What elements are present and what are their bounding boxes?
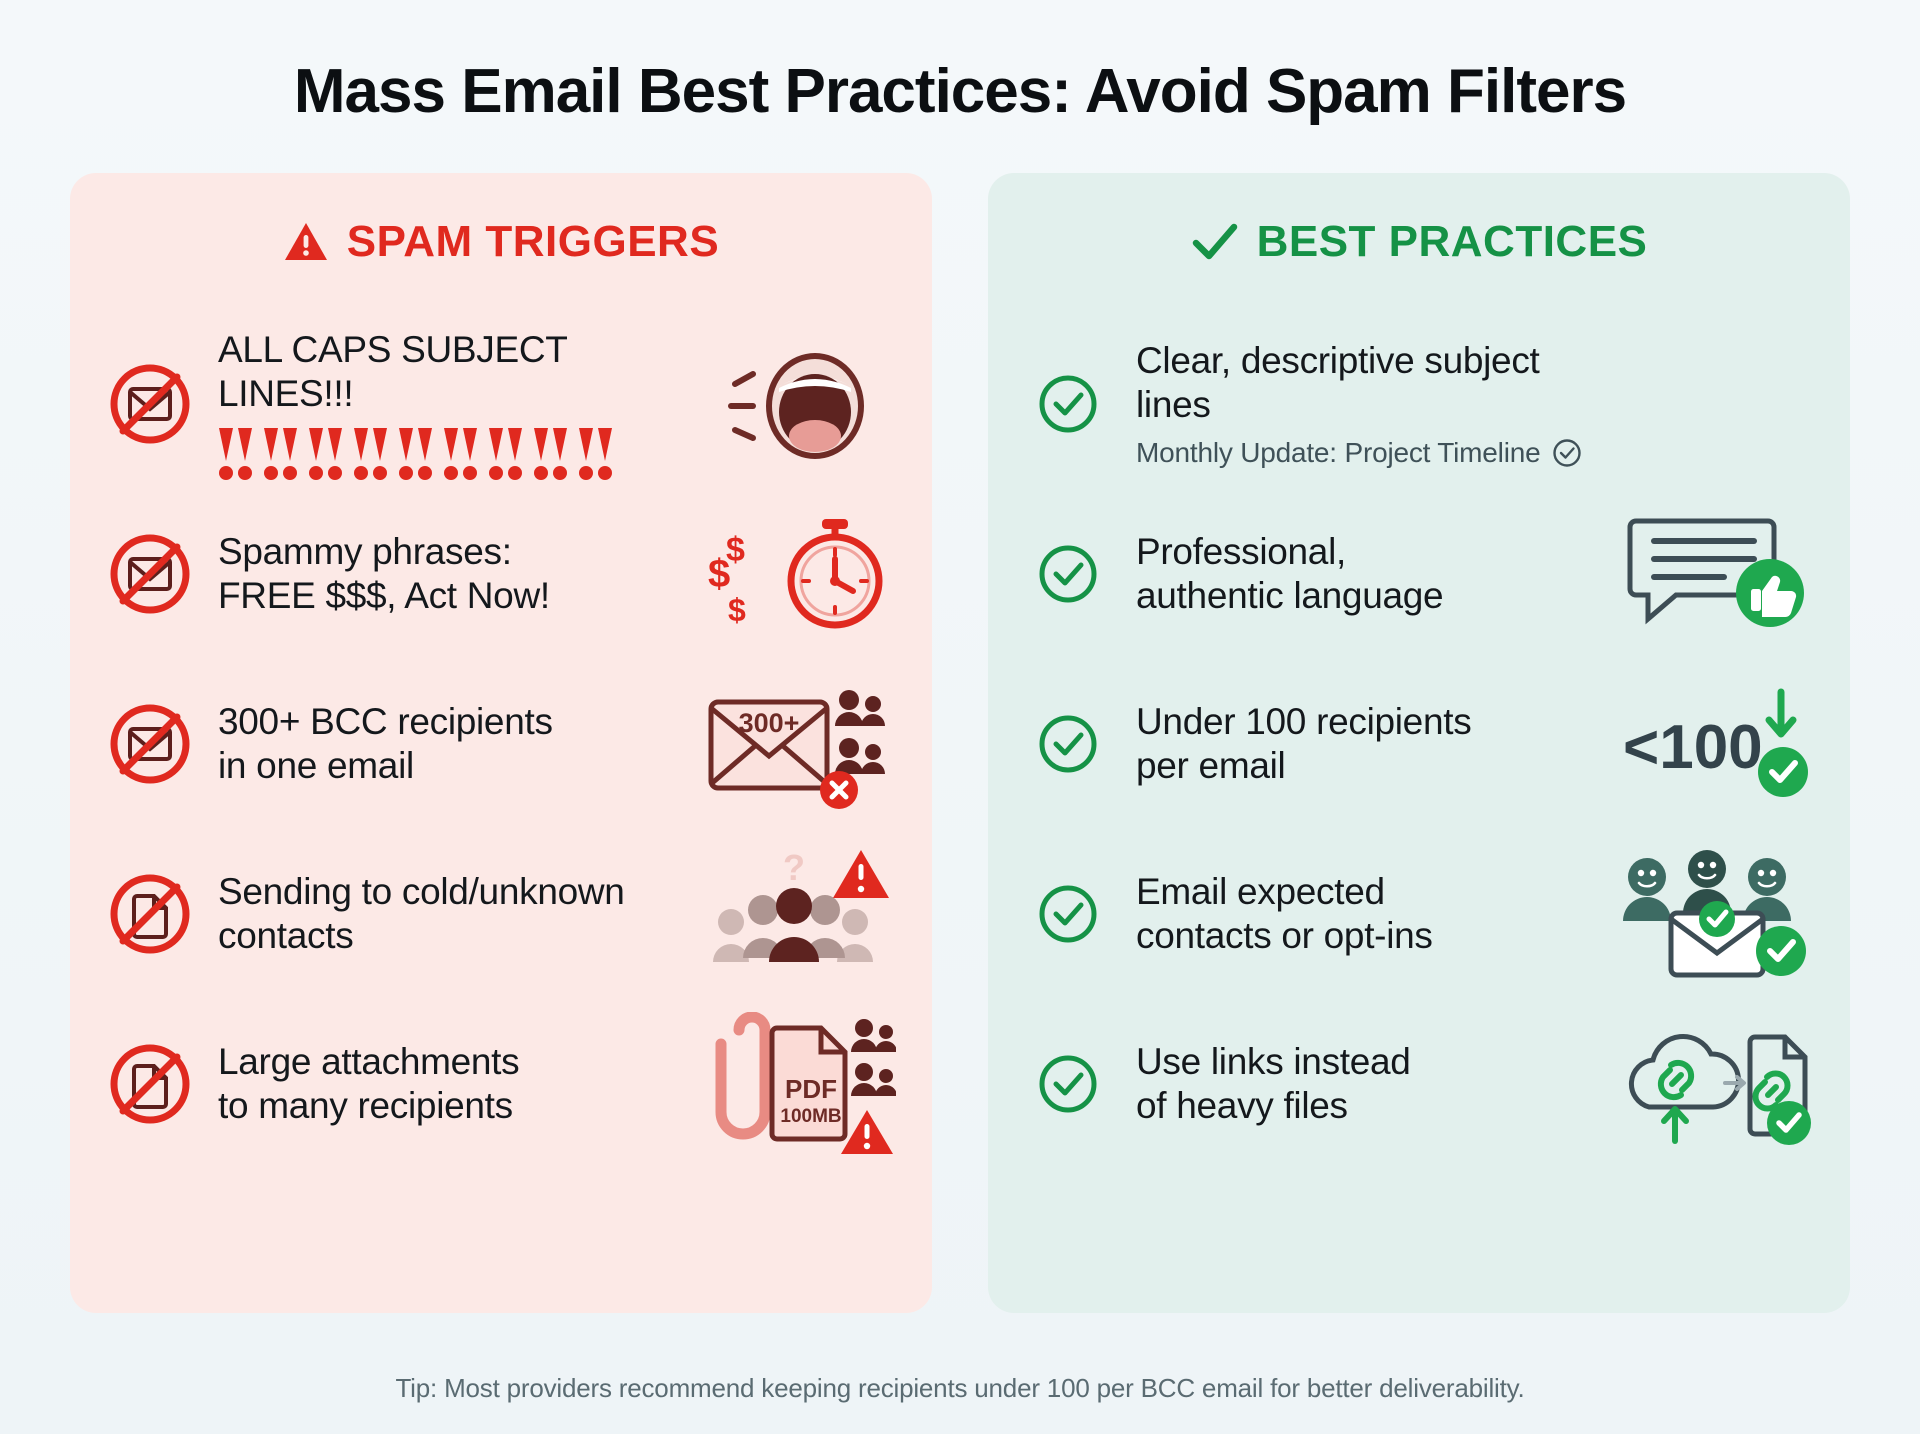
best-row-under-100-body: Under 100 recipients per email [1136, 700, 1594, 787]
best-row-expected-line1: Email expected [1136, 870, 1594, 914]
spam-row-bcc-line2: in one email [218, 744, 676, 788]
best-row-links-line1: Use links instead [1136, 1040, 1594, 1084]
check-circle-small-icon [1552, 438, 1582, 468]
best-row-expected-line2: contacts or opt-ins [1136, 914, 1594, 958]
best-row-links-line2: of heavy files [1136, 1084, 1594, 1128]
footer-tip: Tip: Most providers recommend keeping re… [70, 1347, 1850, 1434]
exclamation-pair [578, 428, 612, 480]
unknown-contacts-warning-icon: ? [698, 844, 898, 984]
spam-row-all-caps-text: ALL CAPS SUBJECT LINES!!! [218, 328, 676, 415]
warning-triangle-icon [283, 221, 329, 263]
spam-triggers-panel: SPAM TRIGGERS ALL CAPS SUBJECT LINE [70, 173, 932, 1313]
page-title: Mass Email Best Practices: Avoid Spam Fi… [70, 56, 1850, 127]
spam-row-all-caps: ALL CAPS SUBJECT LINES!!! [104, 319, 898, 489]
check-circle-icon [1022, 1053, 1114, 1115]
spam-row-spammy-phrases-body: Spammy phrases: FREE $$$, Act Now! [218, 530, 676, 617]
exclamation-pair [218, 428, 252, 480]
spam-row-cold-contacts: Sending to cold/unknown contacts [104, 829, 898, 999]
exclamation-marks [218, 428, 676, 480]
best-row-subject-sub: Monthly Update: Project Timeline [1136, 437, 1594, 469]
best-panel-header: BEST PRACTICES [1022, 217, 1816, 267]
spam-row-bcc-body: 300+ BCC recipients in one email [218, 700, 676, 787]
best-row-professional-body: Professional, authentic language [1136, 530, 1594, 617]
spam-panel-title: SPAM TRIGGERS [347, 217, 719, 267]
best-panel-title: BEST PRACTICES [1257, 217, 1648, 267]
exclamation-pair [353, 428, 387, 480]
pdf-label: PDF [785, 1074, 837, 1104]
best-row-subject-sub-text: Monthly Update: Project Timeline [1136, 437, 1540, 469]
best-row-expected-contacts: Email expected contacts or opt-ins [1022, 829, 1816, 999]
spam-row-cold-line1: Sending to cold/unknown [218, 870, 676, 914]
spam-row-bcc-line1: 300+ BCC recipients [218, 700, 676, 744]
pdf-attachment-icon: PDF 100MB [698, 1014, 898, 1154]
check-circle-icon [1022, 543, 1114, 605]
envelope-count-label: 300+ [739, 708, 800, 738]
best-rows: Clear, descriptive subject lines Monthly… [1022, 319, 1816, 1169]
spam-row-large-attachments: Large attachments to many recipients PDF… [104, 999, 898, 1169]
under-100-label: <100 [1623, 713, 1763, 782]
spam-row-all-caps-body: ALL CAPS SUBJECT LINES!!! [218, 328, 676, 479]
check-circle-icon [1022, 373, 1114, 435]
cloud-link-file-icon [1616, 1014, 1816, 1154]
best-row-subject-body: Clear, descriptive subject lines Monthly… [1136, 339, 1594, 468]
spam-row-spammy-phrases: Spammy phrases: FREE $$$, Act Now! $ $ $ [104, 489, 898, 659]
exclamation-pair [263, 428, 297, 480]
svg-text:$: $ [728, 592, 746, 628]
spam-row-spammy-line2: FREE $$$, Act Now! [218, 574, 676, 618]
spam-row-attachments-line1: Large attachments [218, 1040, 676, 1084]
exclamation-pair [308, 428, 342, 480]
no-email-icon [104, 362, 196, 446]
check-mark-icon [1191, 221, 1239, 263]
spam-row-cold-line2: contacts [218, 914, 676, 958]
best-row-professional-line2: authentic language [1136, 574, 1594, 618]
infographic-page: Mass Email Best Practices: Avoid Spam Fi… [0, 0, 1920, 1434]
spam-row-attachments-body: Large attachments to many recipients [218, 1040, 676, 1127]
best-row-under-100-line1: Under 100 recipients [1136, 700, 1594, 744]
no-document-icon [104, 1042, 196, 1126]
best-row-links-body: Use links instead of heavy files [1136, 1040, 1594, 1127]
best-row-expected-body: Email expected contacts or opt-ins [1136, 870, 1594, 957]
exclamation-pair [443, 428, 477, 480]
envelope-300-plus-icon: 300+ [698, 674, 898, 814]
best-row-subject-line1: Clear, descriptive subject lines [1136, 339, 1594, 426]
spam-panel-header: SPAM TRIGGERS [104, 217, 898, 267]
spam-row-bcc-recipients: 300+ BCC recipients in one email 300+ [104, 659, 898, 829]
spam-row-spammy-line1: Spammy phrases: [218, 530, 676, 574]
question-mark-label: ? [783, 847, 805, 888]
exclamation-pair [488, 428, 522, 480]
no-email-icon [104, 702, 196, 786]
spam-row-attachments-line2: to many recipients [218, 1084, 676, 1128]
check-circle-icon [1022, 883, 1114, 945]
under-100-icon: <100 [1616, 674, 1816, 814]
best-row-under-100-line2: per email [1136, 744, 1594, 788]
best-row-professional-line1: Professional, [1136, 530, 1594, 574]
best-row-use-links: Use links instead of heavy files [1022, 999, 1816, 1169]
opted-in-contacts-icon [1616, 844, 1816, 984]
best-row-subject-lines: Clear, descriptive subject lines Monthly… [1022, 319, 1816, 489]
exclamation-pair [533, 428, 567, 480]
chat-thumbs-up-icon [1616, 504, 1816, 644]
check-circle-icon [1022, 713, 1114, 775]
spam-row-cold-body: Sending to cold/unknown contacts [218, 870, 676, 957]
best-row-professional-language: Professional, authentic language [1022, 489, 1816, 659]
shouting-mouth-icon [698, 334, 898, 474]
no-document-icon [104, 872, 196, 956]
best-row-under-100: Under 100 recipients per email <100 [1022, 659, 1816, 829]
dollar-signs-stopwatch-icon: $ $ $ [698, 504, 898, 644]
best-practices-panel: BEST PRACTICES Clear, descriptive subjec… [988, 173, 1850, 1313]
best-row-subject-art [1616, 334, 1816, 474]
exclamation-pair [398, 428, 432, 480]
no-email-icon [104, 532, 196, 616]
svg-text:$: $ [708, 552, 730, 596]
pdf-size-label: 100MB [780, 1106, 841, 1127]
panels-container: SPAM TRIGGERS ALL CAPS SUBJECT LINE [70, 173, 1850, 1313]
spam-rows: ALL CAPS SUBJECT LINES!!! [104, 319, 898, 1169]
